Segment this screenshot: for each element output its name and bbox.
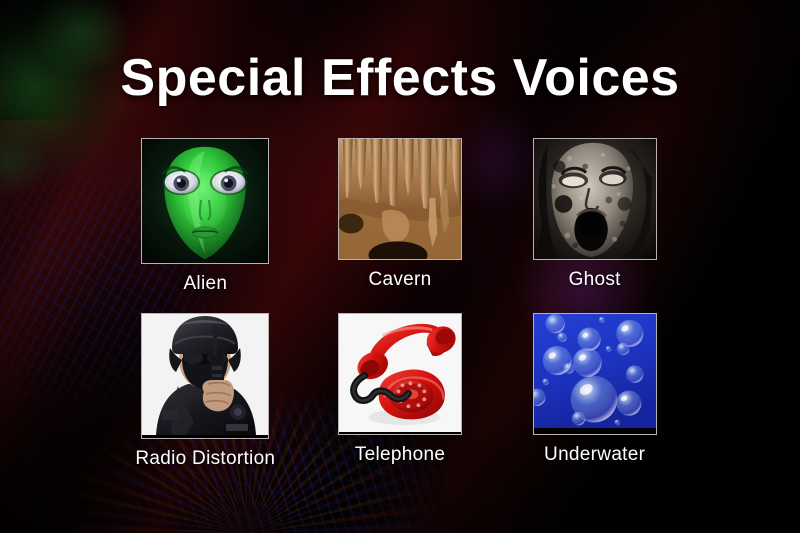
- voice-tile-alien[interactable]: Alien: [108, 138, 303, 295]
- radio-distortion-thumbnail[interactable]: [141, 313, 269, 439]
- voice-tile-telephone[interactable]: Telephone: [303, 313, 498, 470]
- voice-label-alien: Alien: [183, 273, 227, 295]
- telephone-thumbnail[interactable]: [338, 313, 462, 435]
- ghost-thumbnail[interactable]: [533, 138, 657, 260]
- voice-tile-ghost[interactable]: Ghost: [497, 138, 692, 295]
- voice-tile-cavern[interactable]: Cavern: [303, 138, 498, 295]
- voice-effects-grid: Alien: [108, 138, 692, 470]
- cavern-thumbnail[interactable]: [338, 138, 462, 260]
- voice-label-underwater: Underwater: [544, 444, 645, 466]
- screaming-face-icon: [534, 139, 656, 259]
- swat-officer-icon: [142, 314, 268, 435]
- alien-thumbnail[interactable]: [141, 138, 269, 264]
- water-bubbles-icon: [534, 314, 656, 428]
- voice-label-telephone: Telephone: [355, 444, 445, 466]
- alien-face-icon: [142, 139, 268, 263]
- red-rotary-telephone-icon: [339, 314, 461, 432]
- voice-tile-underwater[interactable]: Underwater: [497, 313, 692, 470]
- voice-label-ghost: Ghost: [569, 269, 621, 291]
- voice-label-radio-distortion: Radio Distortion: [135, 448, 275, 470]
- voice-tile-radio-distortion[interactable]: Radio Distortion: [108, 313, 303, 470]
- special-effects-voices-screen: Special Effects Voices: [0, 0, 800, 533]
- cave-stalactites-icon: [339, 139, 461, 259]
- page-title: Special Effects Voices: [0, 48, 800, 108]
- underwater-thumbnail[interactable]: [533, 313, 657, 435]
- voice-label-cavern: Cavern: [368, 269, 431, 291]
